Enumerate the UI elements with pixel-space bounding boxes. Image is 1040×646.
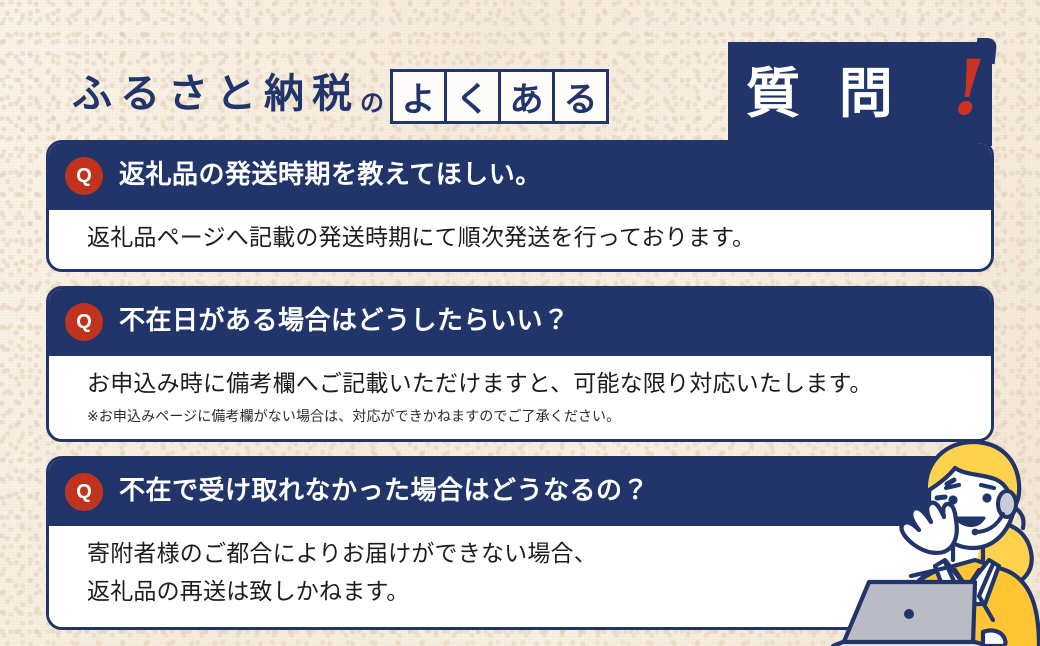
header-title-row: ふるさと納税 の よ く あ る	[72, 64, 606, 126]
faq-question-text: 不在で受け取れなかった場合はどうなるの？	[119, 477, 649, 507]
question-badge-icon: Q	[65, 157, 103, 195]
faq-list: Q 返礼品の発送時期を教えてほしい。 返礼品ページへ記載の発送時期にて順次発送を…	[46, 140, 994, 644]
faq-answer-line: 返礼品の再送は致しかねます。	[87, 576, 969, 609]
faq-answer-body: 返礼品ページへ記載の発送時期にて順次発送を行っております。	[49, 210, 991, 269]
faq-question-text: 不在日がある場合はどうしたらいい？	[119, 307, 570, 337]
page-header: ふるさと納税 の よ く あ る 質 問 !	[0, 18, 1040, 140]
faq-answer-body: お申込み時に備考欄へご記載いただけますと、可能な限り対応いたします。 ※お申込み…	[49, 356, 991, 439]
faq-question-text: 返礼品の発送時期を教えてほしい。	[119, 161, 542, 191]
question-badge-icon: Q	[65, 303, 103, 341]
faq-card[interactable]: Q 不在日がある場合はどうしたらいい？ お申込み時に備考欄へご記載いただけますと…	[46, 286, 994, 442]
boxed-char-1: よ	[390, 69, 447, 124]
faq-card[interactable]: Q 不在で受け取れなかった場合はどうなるの？ 寄附者様のご都合によりお届けができ…	[46, 456, 994, 630]
faq-answer-body: 寄附者様のご都合によりお届けができない場合、 返礼品の再送は致しかねます。	[49, 526, 991, 627]
faq-answer-line: 返礼品ページへ記載の発送時期にて順次発送を行っております。	[87, 222, 969, 255]
faq-question-header[interactable]: Q 不在日がある場合はどうしたらいい？	[49, 289, 991, 356]
header-lead-text: ふるさと納税	[72, 74, 360, 114]
header-particle: の	[360, 83, 384, 118]
boxed-char-3: あ	[498, 69, 555, 124]
faq-question-header[interactable]: Q 不在で受け取れなかった場合はどうなるの？	[49, 459, 991, 526]
faq-answer-note: ※お申込みページに備考欄がない場合は、対応ができかねますのでご了承ください。	[87, 408, 969, 428]
faq-card[interactable]: Q 返礼品の発送時期を教えてほしい。 返礼品ページへ記載の発送時期にて順次発送を…	[46, 140, 994, 272]
header-banner-text: 質 問	[746, 67, 903, 121]
boxed-char-4: る	[552, 69, 609, 124]
faq-question-header[interactable]: Q 返礼品の発送時期を教えてほしい。	[49, 143, 991, 210]
faq-answer-line: お申込み時に備考欄へご記載いただけますと、可能な限り対応いたします。	[87, 368, 969, 401]
boxed-char-2: く	[444, 69, 501, 124]
header-boxed-chars: よ く あ る	[390, 69, 606, 124]
faq-answer-line: 寄附者様のご都合によりお届けができない場合、	[87, 538, 969, 571]
question-badge-icon: Q	[65, 473, 103, 511]
